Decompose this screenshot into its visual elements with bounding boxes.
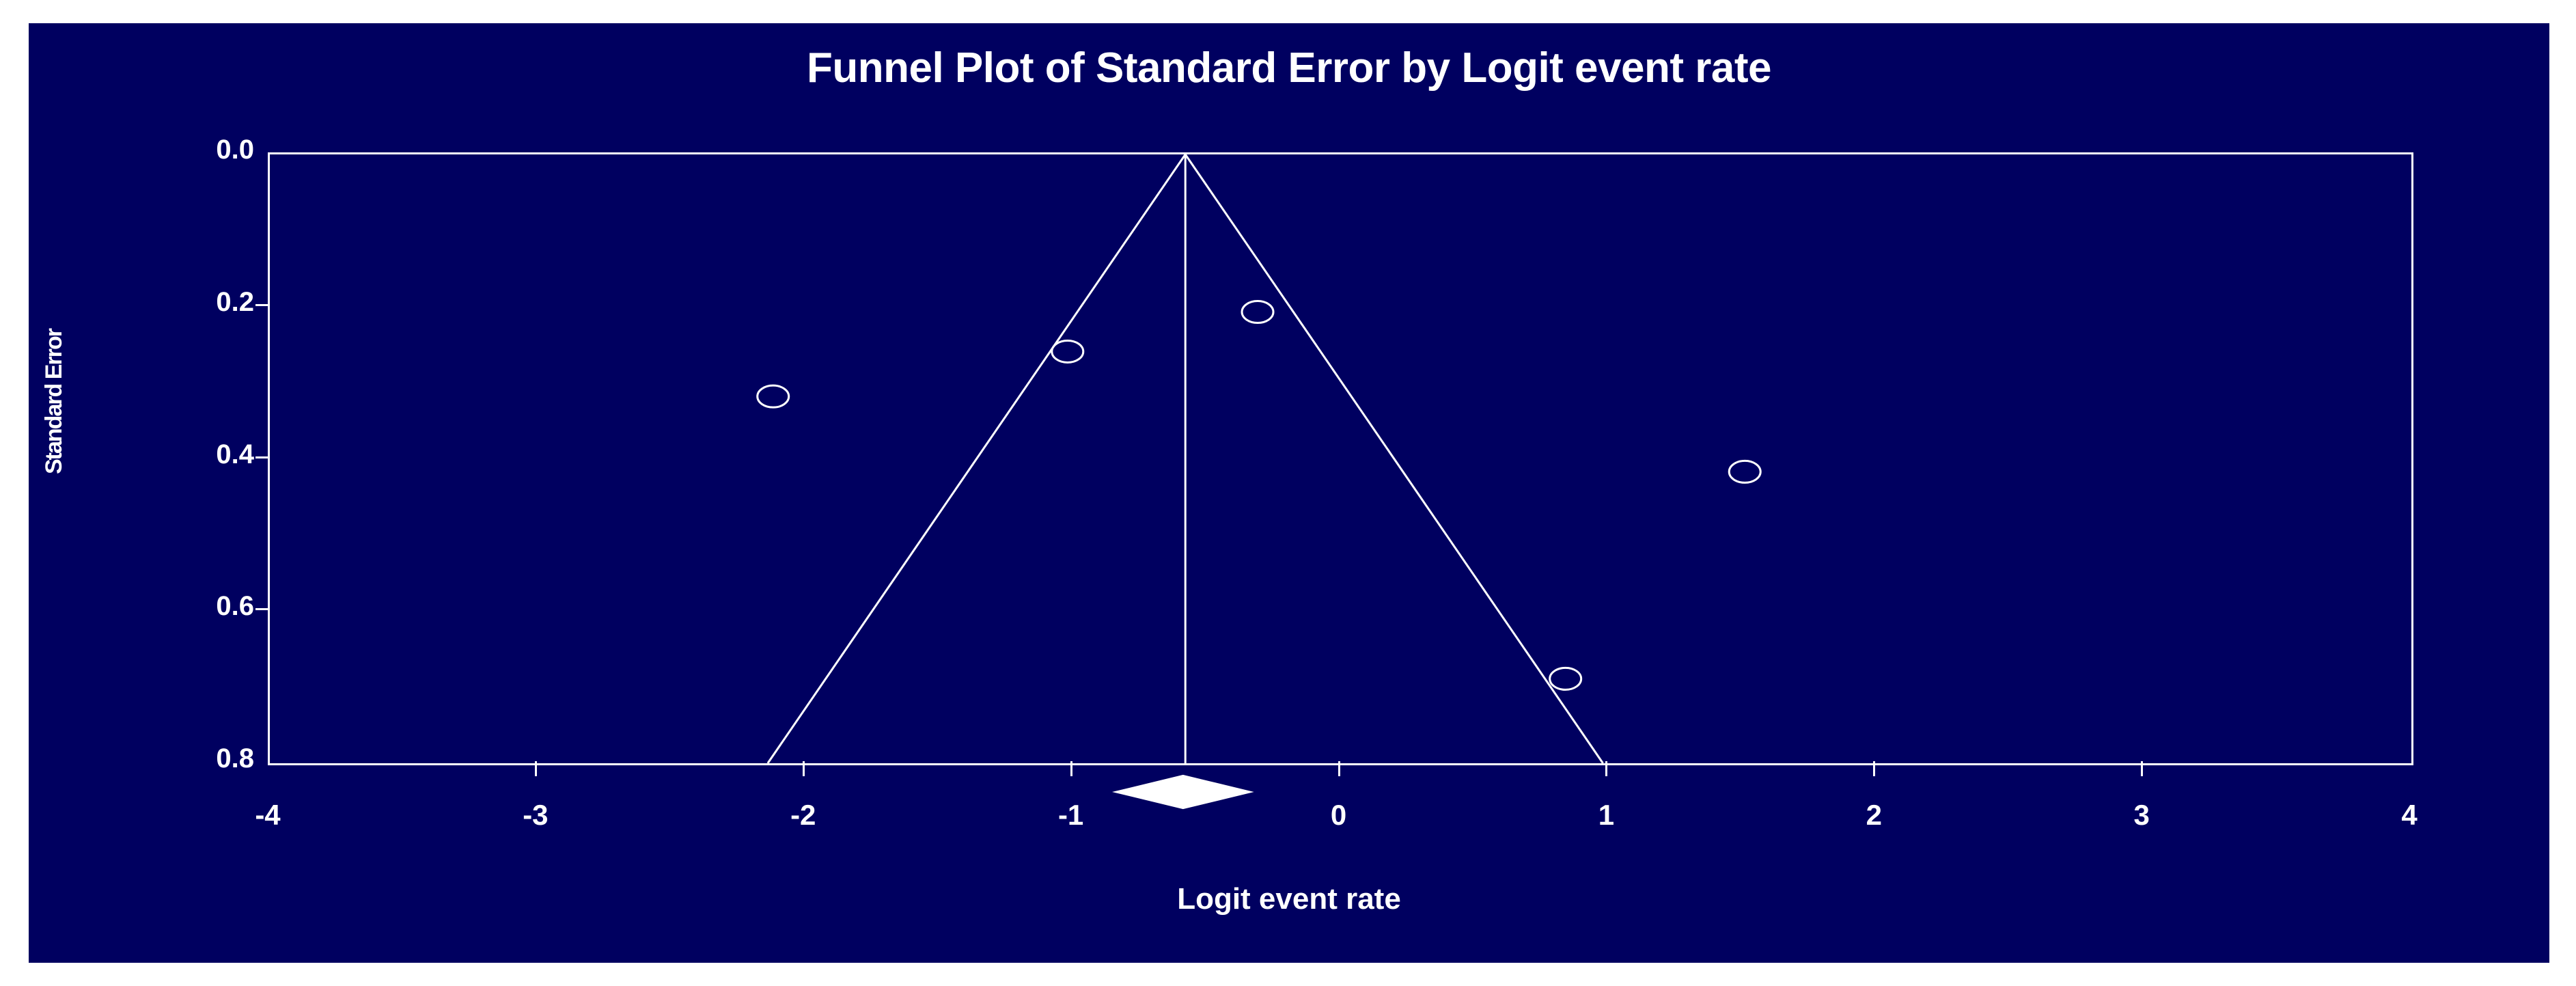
summary-effect-diamond: [1112, 768, 1254, 816]
x-tick-mark-neg1: [1070, 761, 1072, 776]
y-tick-mark-0.4: [255, 456, 268, 458]
data-point-2: [1052, 340, 1083, 362]
data-point-group: [758, 301, 1761, 690]
x-tick-mark-neg2: [803, 761, 805, 776]
y-tick-mark-0.2: [255, 304, 268, 306]
data-point-5: [1729, 461, 1760, 482]
x-axis-title: Logit event rate: [29, 882, 2549, 916]
funnel-line-right: [1185, 154, 1603, 763]
x-tick-label-1: 1: [1551, 799, 1661, 832]
x-tick-mark-2: [1873, 761, 1875, 776]
y-tick-label-0.6: 0.6: [131, 591, 254, 622]
x-tick-label-neg4: -4: [213, 799, 322, 832]
y-tick-label-0.4: 0.4: [131, 439, 254, 470]
x-tick-label-neg3: -3: [481, 799, 590, 832]
x-tick-label-0: 0: [1284, 799, 1394, 832]
y-tick-label-0.8: 0.8: [131, 743, 254, 774]
y-tick-label-0.0: 0.0: [131, 135, 254, 165]
plot-canvas: [270, 154, 2411, 763]
x-tick-label-neg1: -1: [1016, 799, 1126, 832]
chart-title: Funnel Plot of Standard Error by Logit e…: [29, 44, 2549, 92]
x-tick-label-3: 3: [2087, 799, 2196, 832]
x-tick-mark-neg3: [535, 761, 537, 776]
plot-frame: [268, 152, 2413, 765]
y-tick-mark-0.6: [255, 608, 268, 610]
x-tick-mark-0: [1338, 761, 1340, 776]
funnel-line-left: [768, 154, 1185, 763]
data-point-4: [1550, 668, 1581, 689]
y-axis-title: Standard Error: [41, 329, 68, 474]
x-tick-label-4: 4: [2355, 799, 2464, 832]
x-tick-label-neg2: -2: [749, 799, 858, 832]
data-point-1: [758, 385, 789, 407]
x-tick-mark-3: [2141, 761, 2143, 776]
y-tick-label-0.2: 0.2: [131, 287, 254, 318]
data-point-3: [1242, 301, 1273, 323]
x-tick-mark-1: [1605, 761, 1607, 776]
x-tick-label-2: 2: [1819, 799, 1928, 832]
funnel-plot-panel: Funnel Plot of Standard Error by Logit e…: [29, 23, 2549, 963]
